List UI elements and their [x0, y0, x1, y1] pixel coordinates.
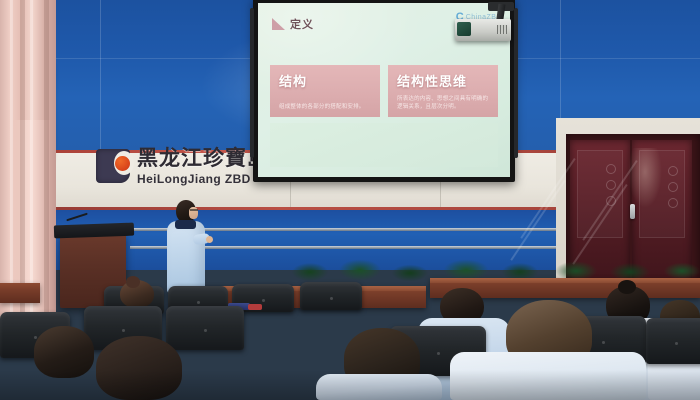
- presenter-shirt: [167, 221, 205, 293]
- curtain-fold: [10, 0, 13, 320]
- curtain-fold-shadow: [44, 0, 49, 320]
- door-panel: [639, 150, 685, 238]
- projector-lens-icon: [457, 22, 471, 36]
- logo-dot-icon: [115, 156, 130, 171]
- slide-title: 定义: [290, 16, 314, 32]
- box-heading: 结构: [279, 71, 371, 90]
- slide-empty-area: [270, 123, 498, 167]
- wall-seam: [100, 0, 101, 150]
- presenter-collar: [175, 220, 196, 229]
- desk-row: [0, 283, 40, 303]
- seat-front: [646, 318, 700, 364]
- door-circle-decor: [668, 182, 678, 192]
- attendee-hair-bun: [126, 276, 140, 288]
- glasses-icon: [190, 209, 198, 211]
- ceiling-projector: [455, 19, 511, 41]
- presenter-hand: [206, 236, 213, 243]
- door-circle-decor: [668, 166, 678, 176]
- door-circle-decor: [668, 198, 678, 208]
- photo-vignette: [0, 370, 700, 400]
- seat-back: [300, 282, 362, 310]
- desk-item-book: [248, 304, 262, 310]
- seat-middle: [166, 306, 244, 350]
- definition-box-structure: 结构 组成整体的各部分的搭配和安排。: [270, 65, 380, 117]
- desk-surface: [430, 278, 700, 283]
- attendee-hair-tie: [618, 280, 636, 294]
- box-body: 所表达的内容、思想之间具有明确的逻辑关系，且层次分明。: [397, 96, 491, 112]
- lectern-top: [54, 223, 134, 239]
- slide-definition-boxes: 结构 组成整体的各部分的搭配和安排。 结构性思维 所表达的内容、思想之间具有明确…: [270, 65, 498, 117]
- triangle-icon: [272, 18, 285, 30]
- curtain-fold-shadow: [20, 0, 25, 320]
- box-heading: 结构性思维: [397, 71, 489, 90]
- slide-title-group: 定义: [272, 16, 314, 32]
- conference-room-photo: 黑龙江珍寶島 HeiLongJiang ZBD 定义 C ChinaZBD 结构…: [0, 0, 700, 400]
- curtain-fold: [30, 0, 33, 320]
- definition-box-structural-thinking: 结构性思维 所表达的内容、思想之间具有明确的逻辑关系，且层次分明。: [388, 65, 498, 117]
- door-circle-decor: [606, 180, 616, 190]
- projector-vent: [497, 25, 507, 34]
- door-handle[interactable]: [630, 204, 635, 219]
- company-logo-icon: [96, 149, 130, 183]
- company-name-en: HeiLongJiang ZBD: [137, 173, 269, 185]
- door-circle-decor: [606, 164, 616, 174]
- box-body: 组成整体的各部分的搭配和安排。: [279, 104, 373, 112]
